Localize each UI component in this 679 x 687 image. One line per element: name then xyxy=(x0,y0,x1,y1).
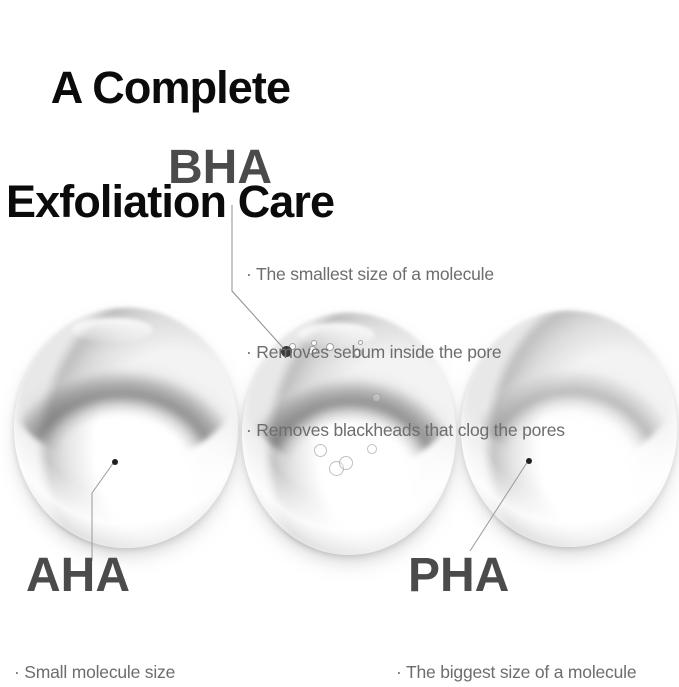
infographic-canvas: A Complete Exfoliation Care xyxy=(0,0,679,687)
page-title-line-1: A Complete xyxy=(51,62,290,113)
section-title-aha: AHA xyxy=(26,552,130,600)
gel-droplet-icon-aha xyxy=(14,308,238,548)
bullet-item: · Removes blackheads that clog the pores xyxy=(246,417,565,443)
bullet-item: · The smallest size of a molecule xyxy=(246,261,565,287)
droplet-rim-light xyxy=(14,308,238,548)
bullet-item: · The biggest size of a molecule xyxy=(396,659,636,685)
droplet-specular-highlight xyxy=(72,318,153,342)
bullet-item: · Small molecule size xyxy=(14,659,219,685)
aha-marker-dot xyxy=(112,459,118,465)
bullet-list-bha: · The smallest size of a molecule · Remo… xyxy=(246,209,565,495)
bullet-item: · Removes sebum inside the pore xyxy=(246,339,565,365)
section-title-pha: PHA xyxy=(408,552,509,600)
bullet-list-aha: · Small molecule size · Exfoliates dead … xyxy=(14,607,219,687)
section-title-bha: BHA xyxy=(168,144,272,192)
bullet-list-pha: · The biggest size of a molecule · A gen… xyxy=(396,607,636,687)
